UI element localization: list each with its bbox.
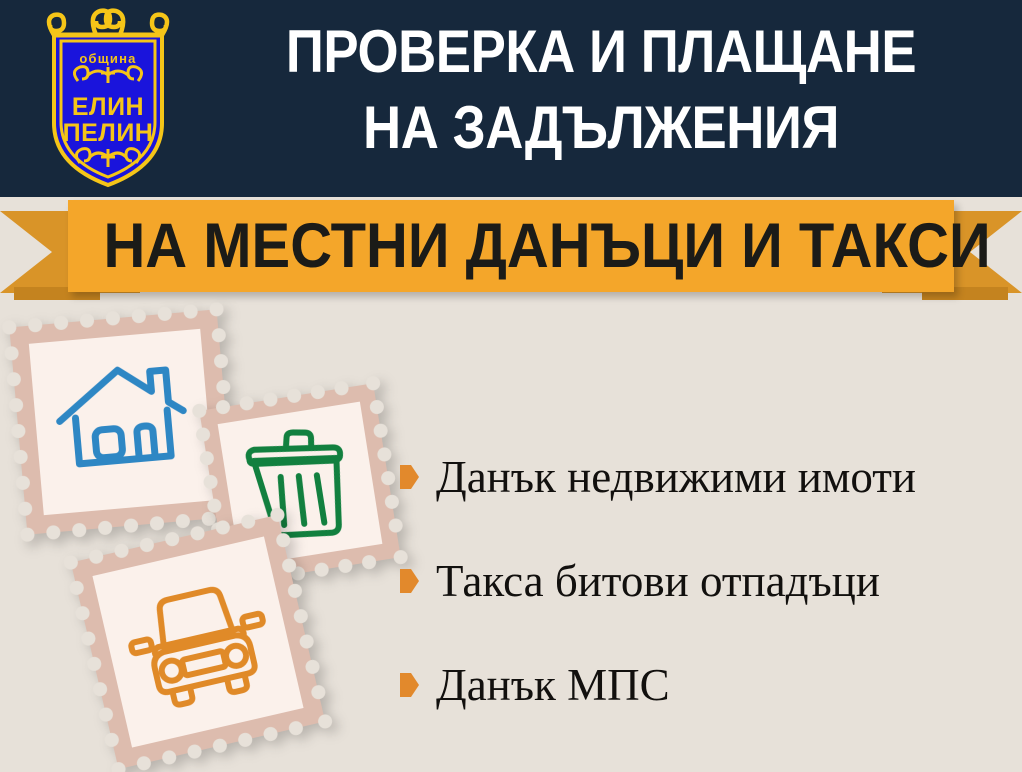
house-icon — [29, 329, 215, 515]
bullet-arrow-icon — [400, 465, 419, 489]
bullet-arrow-icon — [400, 673, 419, 697]
poster-header: община ЕЛИН ПЕЛИН — [0, 0, 1022, 197]
ribbon-label: НА МЕСТНИ ДАНЪЦИ И ТАКСИ — [103, 200, 918, 292]
list-item-label: Данък недвижими имоти — [436, 455, 916, 500]
bullet-arrow-icon — [400, 569, 419, 593]
list-item: Данък недвижими имоти — [400, 425, 1010, 529]
page-title: ПРОВЕРКА И ПЛАЩАНЕ НА ЗАДЪЛЖЕНИЯ — [245, 14, 958, 166]
logo-text-elin: ЕЛИН — [72, 93, 144, 121]
logo-text-obshtina: община — [79, 51, 136, 66]
stamp-paper — [29, 329, 215, 515]
subtitle-ribbon: НА МЕСТНИ ДАНЪЦИ И ТАКСИ — [0, 196, 1022, 308]
list-item-label: Такса битови отпадъци — [436, 559, 880, 604]
tax-types-list: Данък недвижими имоти Такса битови отпад… — [400, 425, 1010, 737]
stamp-illustrations — [0, 300, 420, 770]
car-icon — [92, 536, 303, 747]
list-item-label: Данък МПС — [436, 663, 670, 708]
ribbon-panel: НА МЕСТНИ ДАНЪЦИ И ТАКСИ — [68, 200, 954, 292]
list-item: Такса битови отпадъци — [400, 529, 1010, 633]
municipality-logo: община ЕЛИН ПЕЛИН — [26, 5, 190, 191]
page-title-line2: НА ЗАДЪЛЖЕНИЯ — [245, 90, 958, 166]
stamp-paper — [92, 536, 303, 747]
list-item: Данък МПС — [400, 633, 1010, 737]
page-title-line1: ПРОВЕРКА И ПЛАЩАНЕ — [245, 14, 958, 90]
poster-canvas: община ЕЛИН ПЕЛИН — [0, 0, 1022, 772]
logo-text-pelin: ПЕЛИН — [63, 119, 154, 147]
